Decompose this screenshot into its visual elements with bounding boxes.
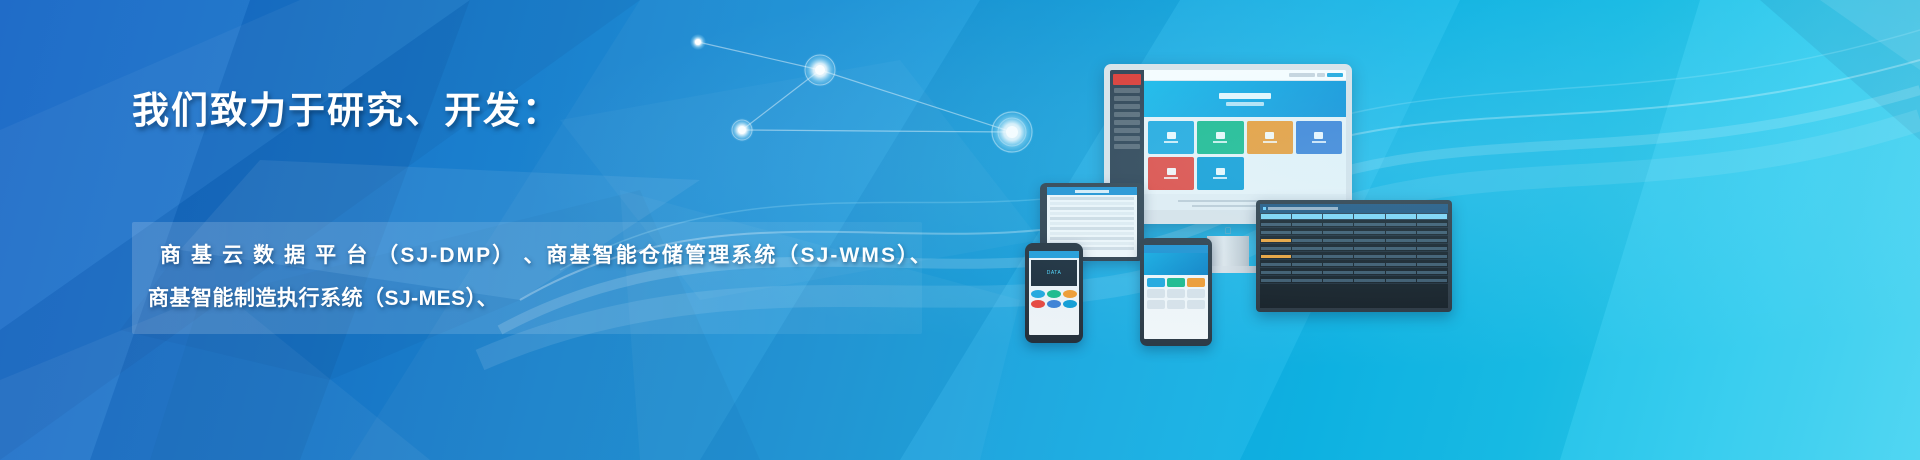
tablet-row [1050,222,1134,225]
tile-settings[interactable] [1197,157,1243,190]
imac-screen [1110,70,1346,210]
table-row[interactable] [1260,252,1448,260]
tp-icon-2[interactable] [1167,278,1185,287]
status-dot-icon [1263,207,1266,210]
chart-icon [1216,132,1225,139]
phone-app-header [1029,251,1079,258]
tp-icon-5[interactable] [1167,289,1185,298]
sidebar-item-4[interactable] [1114,112,1140,117]
tile-manufacturing[interactable] [1247,121,1293,154]
product-line-2: 商基智能制造执行系统（SJ-MES）、 [148,277,906,320]
sidebar-item-2[interactable] [1114,96,1140,101]
tile-empty-1 [1247,157,1293,190]
tile-business[interactable] [1148,121,1194,154]
sidebar-item-8[interactable] [1114,144,1140,149]
table-row[interactable] [1260,236,1448,244]
tile-user-center[interactable] [1296,121,1342,154]
tablet-portrait-grid [1144,275,1208,312]
tp-icon-8[interactable] [1167,300,1185,309]
table-row[interactable] [1260,268,1448,276]
hero-title [1219,93,1271,99]
tile-empty-2 [1296,157,1342,190]
product-list-box: 商 基 云 数 据 平 台 （SJ-DMP） 、商基智能仓储管理系统（SJ-WM… [132,222,922,334]
sidebar-item-5[interactable] [1114,120,1140,125]
tablet-portrait-mockup [1140,238,1212,346]
laptop-lid [1256,200,1452,312]
tablet-row [1050,207,1134,210]
tablet-row [1050,202,1134,205]
tp-icon-1[interactable] [1147,278,1165,287]
monitor-icon [1167,132,1176,139]
mes-dashboard-header [1260,204,1448,213]
app-logo-icon [1113,74,1141,85]
phone-icon-5[interactable] [1047,300,1061,308]
user-icon [1314,132,1323,139]
hero-subtitle [1226,102,1264,106]
table-row[interactable] [1260,244,1448,252]
app-hero [1144,81,1346,117]
tablet-portrait-header [1144,245,1208,253]
app-topbar [1144,70,1346,81]
tablet-row [1050,217,1134,220]
mes-dashboard-title [1268,207,1338,210]
tile-analytics[interactable] [1197,121,1243,154]
col-id [1261,214,1291,219]
phone-icon-2[interactable] [1047,290,1061,298]
tp-icon-4[interactable] [1147,289,1165,298]
table-row[interactable] [1260,228,1448,236]
phone-icon-4[interactable] [1031,300,1045,308]
sidebar-item-1[interactable] [1114,88,1140,93]
sidebar-item-6[interactable] [1114,128,1140,133]
sidebar-item-3[interactable] [1114,104,1140,109]
gear-icon [1265,132,1274,139]
phone-screen: DATA [1029,251,1079,335]
device-mockup-cluster:  [1000,0,1560,460]
tablet-app-header [1047,187,1137,195]
imac-stand-neck [1207,236,1249,266]
tablet-row [1050,237,1134,240]
product-line-1: 商 基 云 数 据 平 台 （SJ-DMP） 、商基智能仓储管理系统（SJ-WM… [148,234,906,277]
headline-block: 我们致力于研究、开发： [132,88,932,134]
sidebar-item-7[interactable] [1114,136,1140,141]
tp-icon-9[interactable] [1187,300,1205,309]
tablet-row [1050,212,1134,215]
col-time [1417,214,1447,219]
app-tile-grid [1144,117,1346,194]
hero-banner: 我们致力于研究、开发： 商 基 云 数 据 平 台 （SJ-DMP） 、商基智能… [0,0,1920,460]
alert-icon [1167,168,1176,175]
table-row[interactable] [1260,220,1448,228]
laptop-screen [1260,204,1448,308]
phone-data-panel: DATA [1031,260,1077,286]
phone-mockup: DATA [1025,243,1083,343]
page-title: 我们致力于研究、开发： [132,88,932,134]
settings-icon [1216,168,1225,175]
tile-alerts[interactable] [1148,157,1194,190]
apple-logo-icon:  [1225,226,1232,236]
tablet-row [1050,227,1134,230]
tablet-portrait-hero [1144,253,1208,275]
phone-data-badge: DATA [1047,270,1062,276]
topbar-account[interactable] [1289,73,1315,77]
tablet-portrait-screen [1144,245,1208,339]
col-name [1292,214,1322,219]
search-icon[interactable] [1317,73,1325,77]
tp-icon-7[interactable] [1147,300,1165,309]
mes-table-header [1260,213,1448,220]
table-row[interactable] [1260,260,1448,268]
tablet-portrait-body [1140,238,1212,346]
tp-icon-3[interactable] [1187,278,1205,287]
phone-icon-6[interactable] [1063,300,1077,308]
app-main [1144,70,1346,210]
tablet-row [1050,197,1134,200]
phone-icon-1[interactable] [1031,290,1045,298]
phone-icon-3[interactable] [1063,290,1077,298]
logout-button[interactable] [1327,73,1343,77]
col-eff [1386,214,1416,219]
laptop-mockup [1250,200,1458,312]
tp-icon-6[interactable] [1187,289,1205,298]
col-output [1354,214,1384,219]
phone-body: DATA [1025,243,1083,343]
col-status [1323,214,1353,219]
phone-icon-grid [1029,288,1079,310]
tablet-row [1050,232,1134,235]
table-row[interactable] [1260,276,1448,284]
